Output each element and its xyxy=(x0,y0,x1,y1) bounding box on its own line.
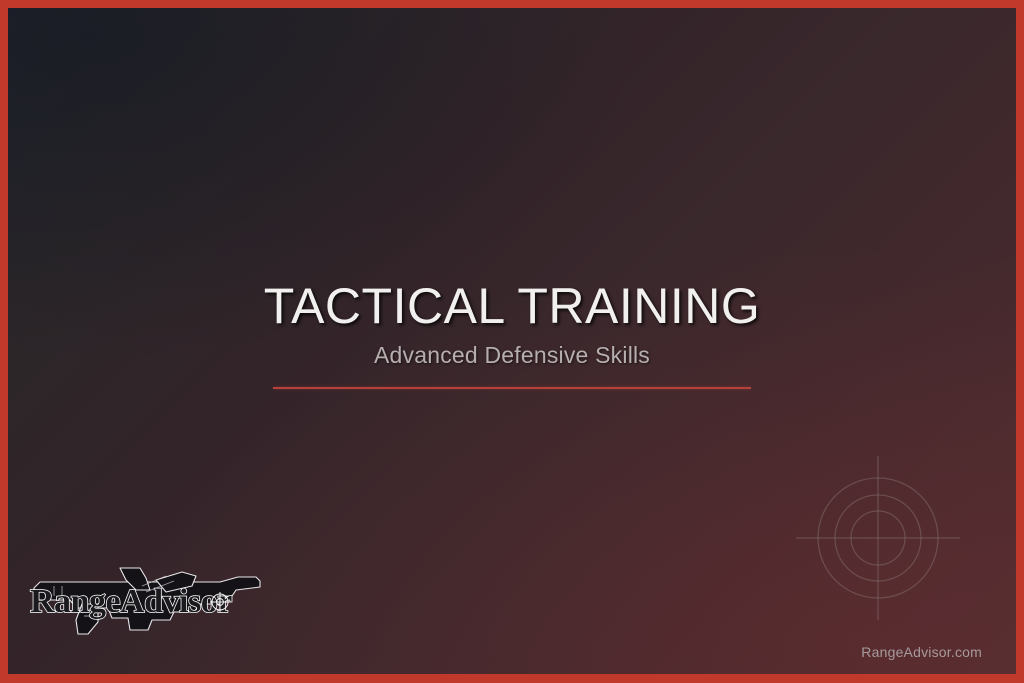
presentation-slide: TACTICAL TRAINING Advanced Defensive Ski… xyxy=(0,0,1024,683)
title-accent-divider xyxy=(273,387,751,389)
page-title: TACTICAL TRAINING xyxy=(8,280,1016,332)
logo-wordmark: RangeAdvisor xyxy=(30,583,232,620)
brand-logo[interactable]: RangeAdvisor xyxy=(24,560,269,638)
target-crosshair-graphic xyxy=(794,454,962,622)
slide-canvas: TACTICAL TRAINING Advanced Defensive Ski… xyxy=(8,8,1016,674)
footer-url: RangeAdvisor.com xyxy=(861,644,982,660)
page-subtitle: Advanced Defensive Skills xyxy=(8,342,1016,369)
title-block: TACTICAL TRAINING Advanced Defensive Ski… xyxy=(8,280,1016,389)
